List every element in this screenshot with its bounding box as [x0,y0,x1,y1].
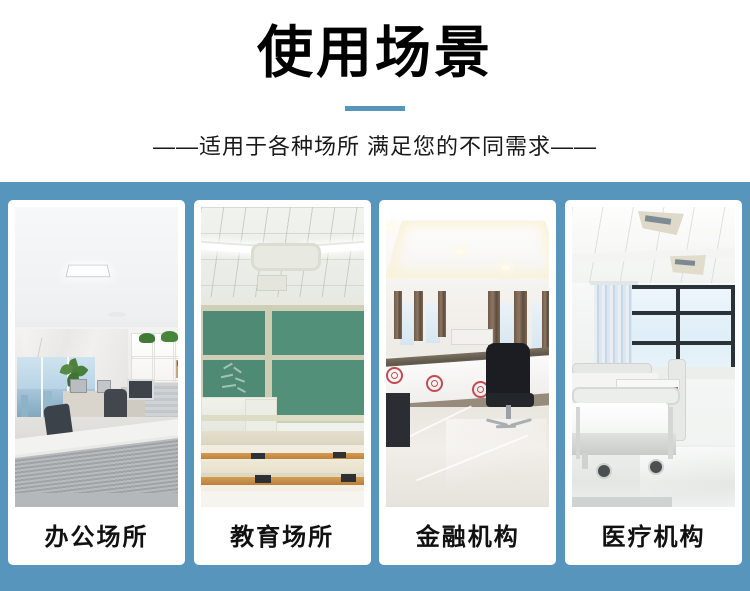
scene-card-medical[interactable]: 医疗机构 [565,200,742,565]
cove-light-icon [386,221,549,280]
scenes-band: 办公场所 [0,182,750,591]
air-vent-icon [670,255,706,275]
bed-caster-wheel-icon [648,459,664,475]
monitor-icon [70,379,87,393]
classroom-interior-photo [201,207,364,507]
scene-label-medical: 医疗机构 [572,507,735,565]
scene-label-finance: 金融机构 [386,507,549,565]
office-chair-icon [104,389,127,419]
title-underline-accent [345,106,405,111]
scene-label-office: 办公场所 [15,507,178,565]
monitor-icon [127,379,154,400]
page-header: 使用场景 ——适用于各种场所 满足您的不同需求—— [0,0,750,182]
scene-card-office[interactable]: 办公场所 [8,200,185,565]
scene-cards-row: 办公场所 [8,200,742,565]
page-title: 使用场景 [0,18,750,88]
chalkboard-icon [271,311,364,419]
ceiling-panel-light-icon [65,265,110,277]
scene-card-education[interactable]: 教育场所 [194,200,371,565]
scene-label-education: 教育场所 [201,507,364,565]
projector-icon [257,275,287,291]
ceiling-vent-icon [251,243,321,271]
hospital-ward-photo [572,207,735,507]
page-subtitle: ——适用于各种场所 满足您的不同需求—— [0,131,750,163]
desk-row-icon [201,477,364,485]
scene-card-finance[interactable]: 金融机构 [379,200,556,565]
bed-caster-wheel-icon [596,463,612,479]
office-interior-photo [15,207,178,507]
bank-interior-photo [386,207,549,507]
